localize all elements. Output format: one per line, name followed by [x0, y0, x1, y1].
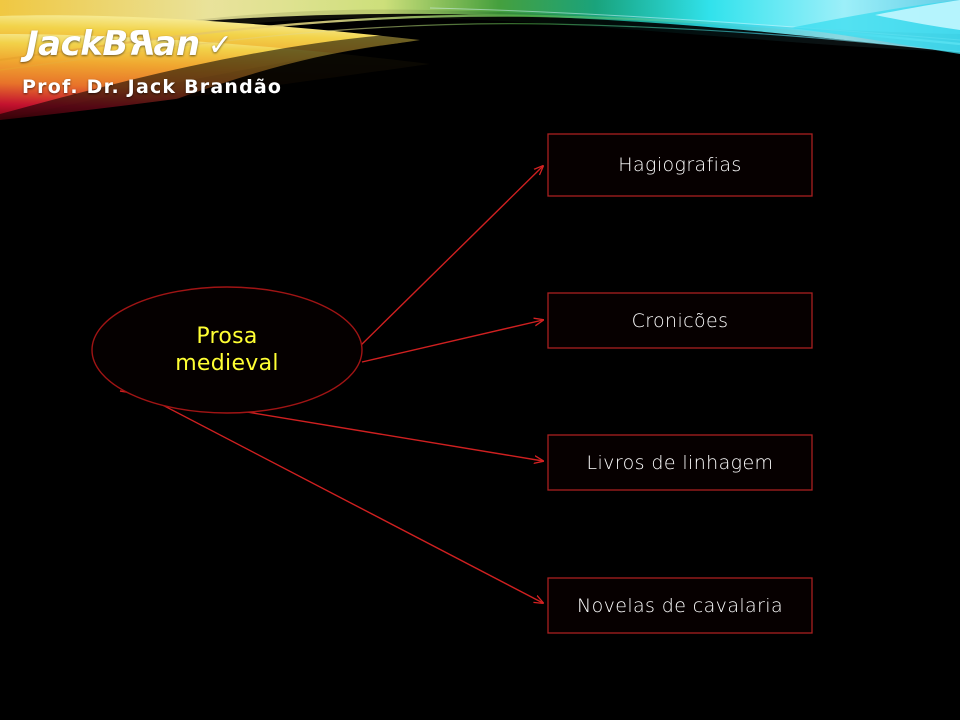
node-prosa-medieval[interactable] — [92, 287, 362, 413]
node-cronicoes[interactable] — [548, 293, 812, 348]
brand-subtitle: Prof. Dr. Jack Brandão — [22, 76, 282, 98]
brand-title: JackBRan✓ — [26, 24, 232, 64]
brand-title-text: JackBRan — [26, 24, 200, 64]
brand-reversed-r: R — [128, 24, 154, 64]
node-novelas-de-cavalaria[interactable] — [548, 578, 812, 633]
node-hagiografias[interactable] — [548, 134, 812, 196]
edge-hagiografias — [355, 166, 543, 351]
edge-novelas-de-cavalaria — [126, 386, 543, 603]
node-livros-de-linhagem[interactable] — [548, 435, 812, 490]
edge-cronicoes — [362, 320, 543, 362]
slide-canvas: JackBRan✓ Prof. Dr. Jack Brandão — [0, 0, 960, 720]
brand-block: JackBRan✓ Prof. Dr. Jack Brandão — [0, 0, 520, 120]
checkmark-icon: ✓ — [208, 28, 233, 63]
